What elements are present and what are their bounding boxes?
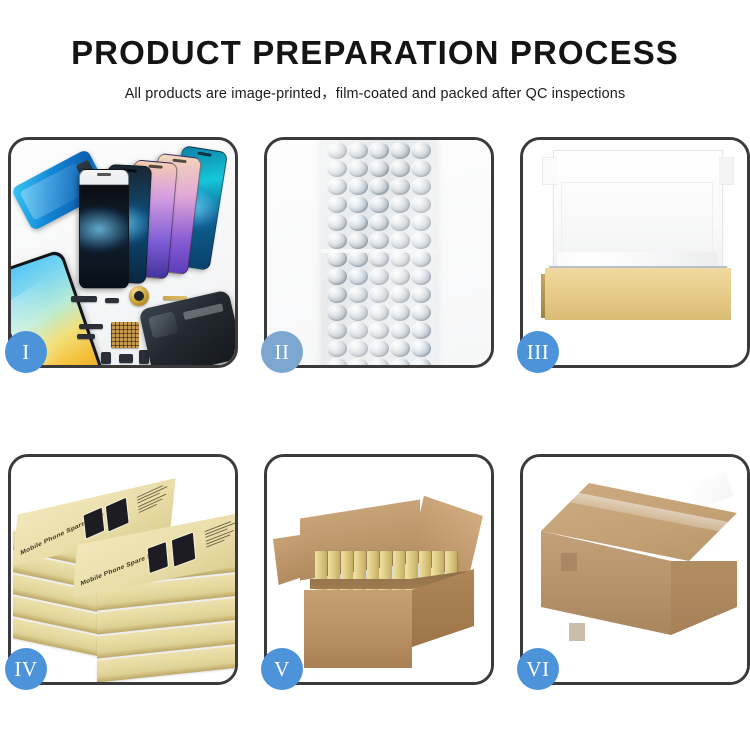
page-subtitle: All products are image-printed，film-coat… [0, 82, 750, 103]
phone-graphic-icon [84, 508, 105, 539]
carton-hand-hole-top [561, 553, 577, 571]
packing-slip-icon [688, 471, 734, 508]
step-badge-2: II [261, 331, 303, 373]
wrap-film-sheen [321, 140, 437, 365]
step-panel-6[interactable]: VI [520, 454, 750, 685]
process-step-grid: I [8, 137, 742, 685]
phone-screen-fan [79, 148, 235, 293]
phone-graphic-icon [172, 533, 195, 567]
step-image-carton-sealed [523, 457, 747, 682]
step-image-bubble-wrap [267, 140, 491, 365]
step-panel-5[interactable]: V [264, 454, 494, 685]
step-image-carton-filled [267, 457, 491, 682]
carton-hand-hole-bottom [569, 623, 585, 641]
page-title: PRODUCT PREPARATION PROCESS [0, 36, 750, 71]
step-badge-5: V [261, 648, 303, 690]
carton-front-panel [304, 590, 412, 668]
phone-graphic-icon [106, 498, 129, 532]
kraft-box-tray [545, 268, 731, 320]
step-badge-4: IV [5, 648, 47, 690]
step-panel-4[interactable]: Mobile Phone Spare Parts Mobile Phone Sp… [8, 454, 238, 685]
bubble-wrap-package [321, 140, 437, 365]
box-spec-lines [137, 482, 171, 515]
box-spec-lines [205, 519, 235, 550]
carton-right-face [671, 561, 737, 657]
step-badge-3: III [517, 331, 559, 373]
step-image-inner-box [523, 140, 747, 365]
step-badge-6: VI [517, 648, 559, 690]
page-header: PRODUCT PREPARATION PROCESS All products… [0, 0, 750, 103]
step-image-stacked-boxes: Mobile Phone Spare Parts Mobile Phone Sp… [11, 457, 235, 682]
step-image-products [11, 140, 235, 365]
step-badge-1: I [5, 331, 47, 373]
step-panel-2[interactable]: II [264, 137, 494, 368]
chip-grid-icon [111, 322, 139, 348]
phone-graphic-icon [148, 542, 168, 573]
step-panel-3[interactable]: III [520, 137, 750, 368]
step-panel-1[interactable]: I [8, 137, 238, 368]
phone-screen-icon [79, 169, 129, 289]
box-lid-face [561, 182, 713, 256]
speaker-part-icon [129, 286, 149, 306]
